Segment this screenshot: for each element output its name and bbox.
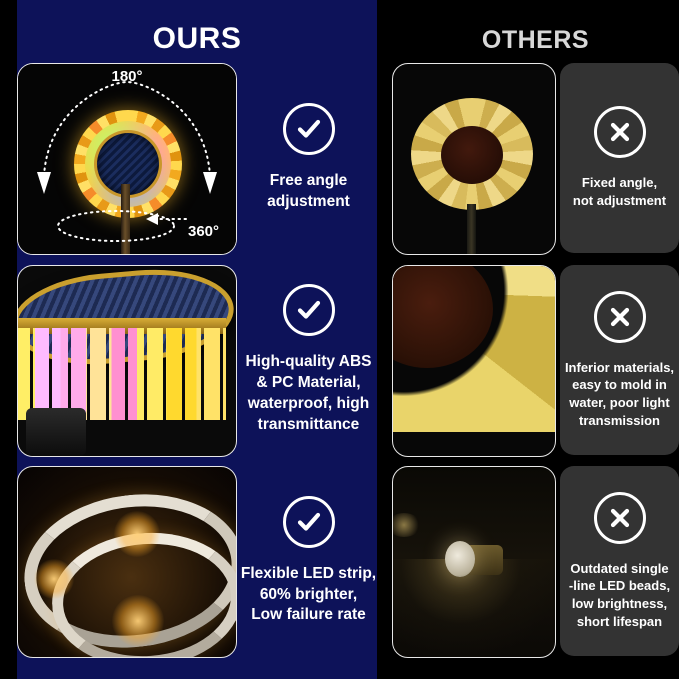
ours-row-1-image: 180° 360° [17, 63, 237, 255]
tilt-angle-label: 180° [111, 68, 142, 85]
ours-row-2-panel: High-quality ABS& PC Material,waterproof… [240, 265, 377, 455]
check-circle-icon [283, 103, 335, 155]
others-row-2-caption: Inferior materials,easy to mold inwater,… [565, 359, 674, 429]
check-circle-icon [283, 284, 335, 336]
light-stem [121, 184, 130, 255]
ours-row-1-panel: Free angleadjustment [240, 63, 377, 253]
cross-circle-icon [594, 492, 646, 544]
ours-row-1-caption: Free angleadjustment [267, 171, 350, 213]
led-glow-icon [114, 511, 160, 557]
others-row-3-caption: Outdated single-line LED beads,low brigh… [569, 560, 670, 630]
others-row-2-image [392, 265, 556, 457]
led-glow-icon [34, 559, 74, 599]
comparison-infographic: OURS OTHERS 180° 360° Fre [0, 0, 679, 679]
ours-row-3-image [17, 466, 237, 658]
others-row-1-panel: Fixed angle,not adjustment [560, 63, 679, 253]
others-row-2-panel: Inferior materials,easy to mold inwater,… [560, 265, 679, 455]
light-base [26, 408, 86, 456]
check-circle-icon [283, 496, 335, 548]
cross-circle-icon [594, 291, 646, 343]
others-row-1-image [392, 63, 556, 255]
others-row-3-image [392, 466, 556, 658]
led-bead-lens-icon [445, 541, 475, 577]
cross-circle-icon [594, 106, 646, 158]
led-glow-icon [112, 595, 164, 647]
ours-row-2-image [17, 265, 237, 457]
rotation-angle-label: 360° [188, 223, 219, 240]
ours-column-title: OURS [17, 22, 377, 56]
ours-row-3-caption: Flexible LED strip,60% brighter,Low fail… [241, 564, 376, 627]
others-row-1-caption: Fixed angle,not adjustment [573, 174, 666, 209]
distant-led-bead-icon [392, 513, 421, 537]
ours-row-3-panel: Flexible LED strip,60% brighter,Low fail… [240, 466, 377, 656]
others-row-3-panel: Outdated single-line LED beads,low brigh… [560, 466, 679, 656]
others-column-title: OTHERS [392, 26, 679, 55]
ours-row-2-caption: High-quality ABS& PC Material,waterproof… [245, 352, 371, 436]
sunflower-center-icon [441, 126, 503, 184]
iridescent-petals-icon [17, 328, 226, 420]
sunflower-stem [467, 204, 476, 255]
